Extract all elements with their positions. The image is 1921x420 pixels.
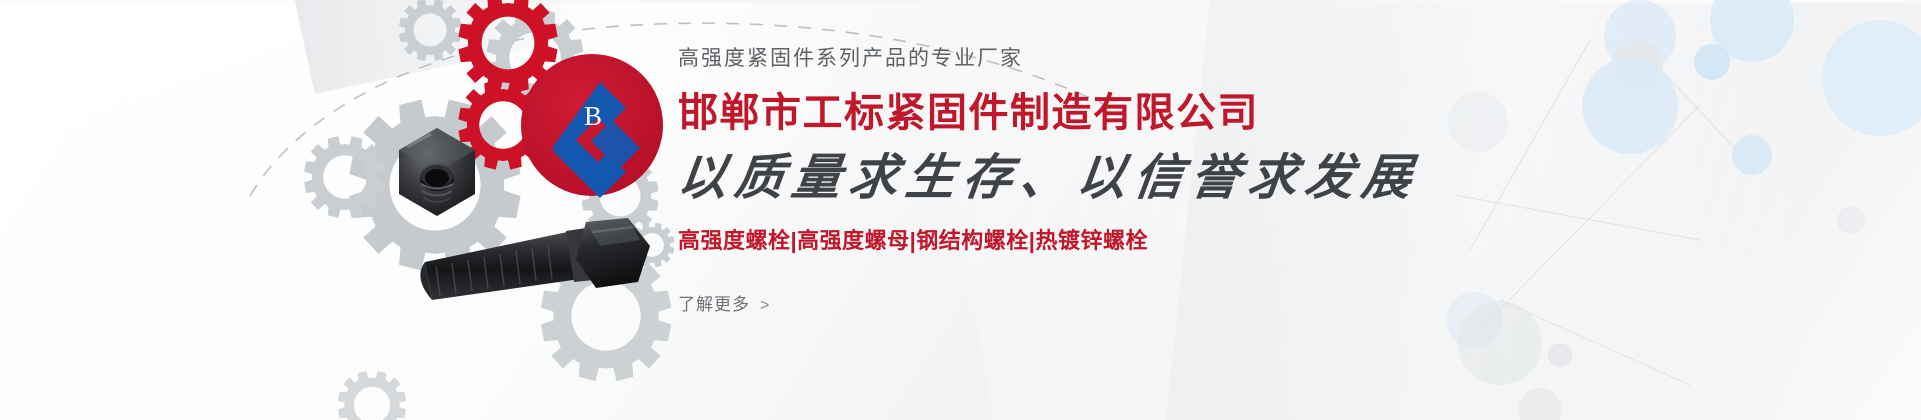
logo-letter-b: B [584,101,602,131]
company-name-title: 邯郸市工标紧固件制造有限公司 [678,88,1678,138]
learn-more-link[interactable]: 了解更多> [678,290,770,315]
hero-banner: B [0,0,1921,420]
company-slogan: 以质量求生存、以信誉求发展 [674,148,1681,208]
gear-gray-small-top [399,0,461,61]
product-keywords: 高强度螺栓|高强度螺母|钢结构螺栓|热镀锌螺栓 [678,226,1678,256]
gear-gray-bottom-edge [338,371,406,420]
learn-more-label: 了解更多 [678,295,750,314]
chevron-right-icon: > [760,297,770,314]
banner-tagline: 高强度紧固件系列产品的专业厂家 [678,44,1678,74]
banner-text-block: 高强度紧固件系列产品的专业厂家 邯郸市工标紧固件制造有限公司 以质量求生存、以信… [678,44,1678,315]
gear-gray-left-bottom [304,136,386,218]
